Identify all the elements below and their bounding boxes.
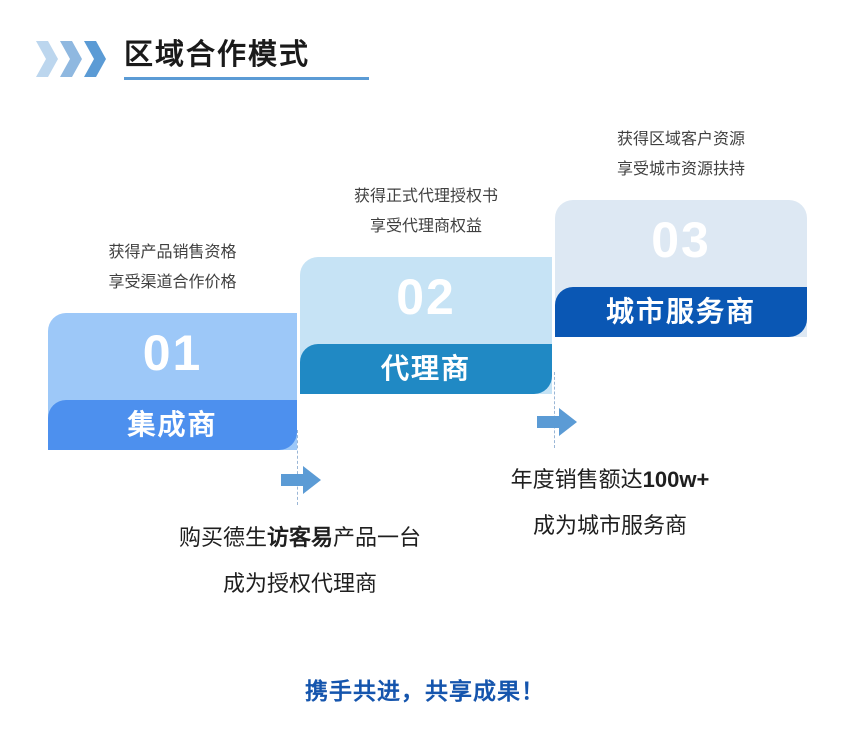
step-02-label: 代理商 <box>381 352 471 386</box>
step-02-number: 02 <box>396 269 456 325</box>
connector-caption-2-line1: 年度销售额达100w+ <box>430 457 790 503</box>
footer-slogan: 携手共进，共享成果！ <box>0 672 850 706</box>
step-02-card-band: 代理商 <box>300 344 552 394</box>
step-03-desc-line1: 获得区域客户资源 <box>555 125 807 155</box>
connector-caption-1: 购买德生访客易产品一台 成为授权代理商 <box>120 515 480 607</box>
step-01-card-band: 集成商 <box>48 400 297 450</box>
caption-1-post: 产品一台 <box>333 525 421 550</box>
arrow-right-icon <box>537 408 577 436</box>
step-03-description: 获得区域客户资源 享受城市资源扶持 <box>555 125 807 185</box>
step-01-number: 01 <box>143 325 203 381</box>
slide-canvas: 区域合作模式 获得产品销售资格 享受渠道合作价格 01 集成商 获得正式代理授权… <box>0 0 850 737</box>
step-01-label: 集成商 <box>127 408 217 442</box>
step-02-desc-line2: 享受代理商权益 <box>300 212 552 242</box>
caption-2-bold: 100w+ <box>643 467 710 492</box>
step-02-desc-line1: 获得正式代理授权书 <box>300 182 552 212</box>
step-01-description: 获得产品销售资格 享受渠道合作价格 <box>48 238 297 298</box>
step-01-card[interactable]: 01 集成商 <box>48 313 297 450</box>
step-03-label: 城市服务商 <box>606 295 756 329</box>
page-title: 区域合作模式 <box>124 38 310 72</box>
step-01-desc-line2: 享受渠道合作价格 <box>48 268 297 298</box>
connector-caption-1-line1: 购买德生访客易产品一台 <box>120 515 480 561</box>
double-chevron-right-icon <box>36 41 106 77</box>
step-03-desc-line2: 享受城市资源扶持 <box>555 155 807 185</box>
arrow-right-icon <box>281 466 321 494</box>
chevron-light-icon <box>36 41 58 77</box>
step-02-card[interactable]: 02 代理商 <box>300 257 552 394</box>
connector-caption-1-line2: 成为授权代理商 <box>120 561 480 607</box>
caption-1-bold: 访客易 <box>267 525 333 550</box>
caption-2-pre: 年度销售额达 <box>511 467 643 492</box>
page-header: 区域合作模式 <box>36 38 310 80</box>
step-02-description: 获得正式代理授权书 享受代理商权益 <box>300 182 552 242</box>
connector-caption-2: 年度销售额达100w+ 成为城市服务商 <box>430 457 790 549</box>
title-block: 区域合作模式 <box>124 38 310 80</box>
chevron-dark-icon <box>84 41 106 77</box>
caption-1-pre: 购买德生 <box>179 525 267 550</box>
step-03-card[interactable]: 03 城市服务商 <box>555 200 807 337</box>
chevron-mid-icon <box>60 41 82 77</box>
connector-caption-2-line2: 成为城市服务商 <box>430 503 790 549</box>
title-underline <box>124 77 369 80</box>
step-01-desc-line1: 获得产品销售资格 <box>48 238 297 268</box>
step-03-number: 03 <box>651 212 711 268</box>
step-03-card-band: 城市服务商 <box>555 287 807 337</box>
